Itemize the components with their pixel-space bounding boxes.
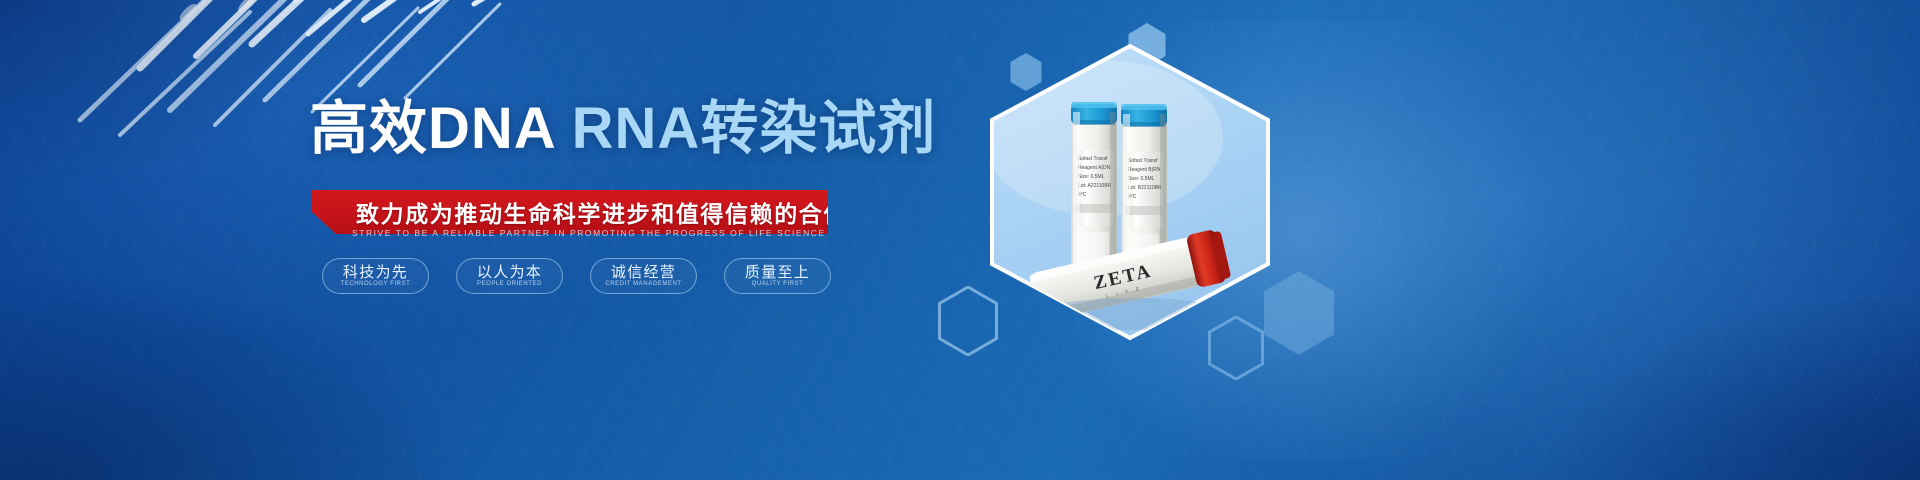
pill-label-cn: 以人为本: [477, 265, 542, 280]
svg-text:Size: 0.5ML: Size: 0.5ML: [1128, 176, 1155, 182]
background-hatch-pattern-secondary: [0, 0, 1920, 480]
feature-pill-technology-first[interactable]: 科技为先 TECHNOLOGY FIRST: [322, 258, 429, 294]
svg-text:Sofast Transf: Sofast Transf: [1128, 158, 1158, 164]
pill-label-en: TECHNOLOGY FIRST: [341, 281, 411, 287]
svg-text:Lot: B22110BR: Lot: B22110BR: [1128, 185, 1162, 191]
product-hexagon-graphic: Sofast Transf Reagent A(DN Size: 0.5ML L…: [985, 42, 1275, 342]
background-hatch-pattern: [0, 0, 1920, 480]
page-title-white: 高效DNA: [310, 96, 572, 161]
hero-banner: Sofast Transf Reagent A(DN Size: 0.5ML L…: [0, 0, 1920, 480]
pill-label-en: PEOPLE ORIENTED: [477, 281, 542, 287]
pill-label-en: QUALITY FIRST: [752, 281, 804, 287]
page-title: 高效DNA RNA转染试剂: [310, 100, 936, 158]
pill-label-cn: 科技为先: [343, 265, 408, 280]
ribbon-text: 致力成为推动生命科学进步和值得信赖的合作者: [356, 195, 873, 229]
page-title-accent: RNA转染试剂: [572, 96, 937, 161]
svg-text:Lot: A22110BR: Lot: A22110BR: [1078, 183, 1112, 189]
svg-text:Sofast Transf: Sofast Transf: [1078, 156, 1108, 162]
svg-text:Size: 0.5ML: Size: 0.5ML: [1078, 174, 1105, 180]
feature-pill-group: 科技为先 TECHNOLOGY FIRST 以人为本 PEOPLE ORIENT…: [322, 258, 831, 294]
subtitle-english: STRIVE TO BE A RELIABLE PARTNER IN PROMO…: [352, 228, 822, 238]
pill-label-cn: 诚信经营: [611, 265, 676, 280]
svg-text:Reagent A(DN: Reagent A(DN: [1078, 165, 1111, 171]
feature-pill-quality-first[interactable]: 质量至上 QUALITY FIRST: [724, 258, 831, 294]
background-vignette: [0, 0, 1920, 480]
feature-pill-credit-management[interactable]: 诚信经营 CREDIT MANAGEMENT: [590, 258, 697, 294]
svg-text:Reagent B(RN: Reagent B(RN: [1128, 167, 1161, 173]
pill-label-cn: 质量至上: [745, 265, 810, 280]
product-vial-left: Sofast Transf Reagent A(DN Size: 0.5ML L…: [1071, 102, 1117, 282]
feature-pill-people-oriented[interactable]: 以人为本 PEOPLE ORIENTED: [456, 258, 563, 294]
pill-label-en: CREDIT MANAGEMENT: [605, 281, 681, 287]
